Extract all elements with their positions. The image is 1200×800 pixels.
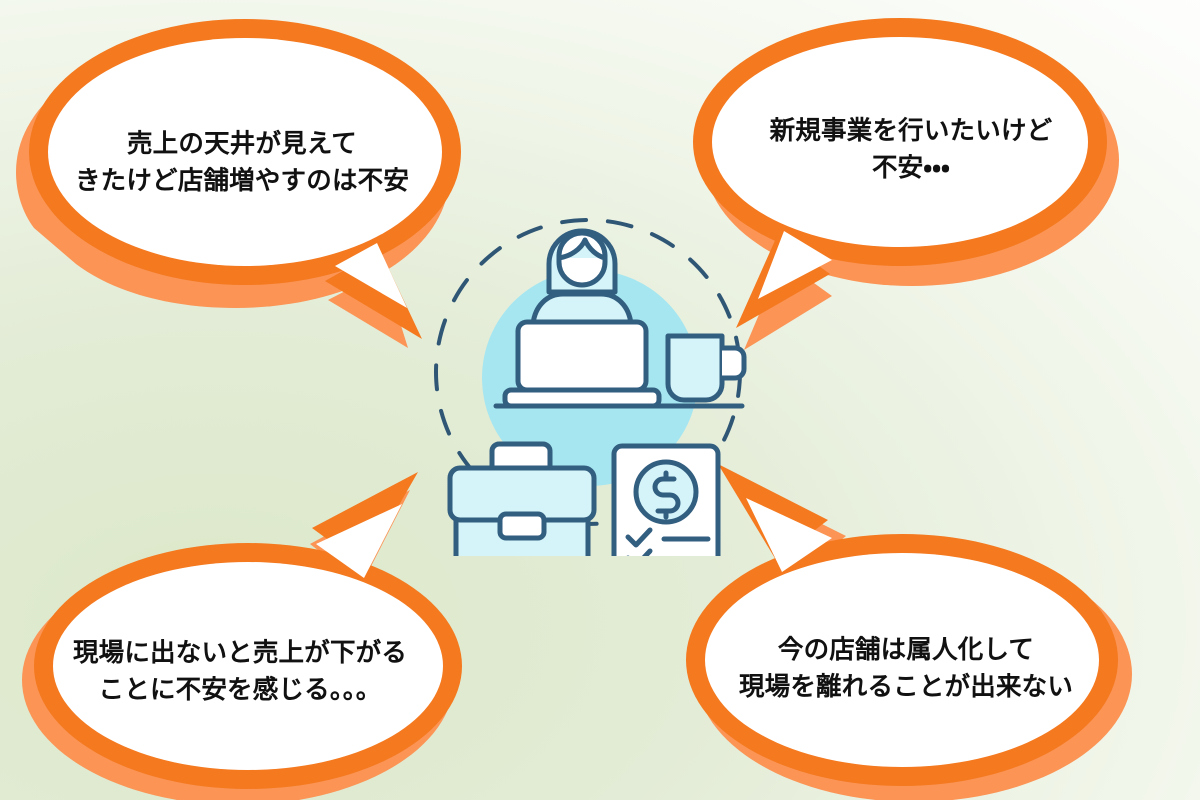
laptop-icon <box>505 322 659 406</box>
person-icon <box>533 231 631 324</box>
coffee-mug-icon <box>668 336 744 400</box>
document-icon <box>614 446 718 556</box>
infographic-canvas: 売上の天井が見えて きたけど店舗増やすのは不安 新規事業を行いたいけど 不安・・… <box>0 0 1200 800</box>
speech-bubble-onsite-sales[interactable]: 現場に出ないと売上が下がる ことに不安を感じる。。。 <box>20 470 470 790</box>
bubble-outline <box>34 472 462 789</box>
speech-bubble-sales-ceiling[interactable]: 売上の天井が見えて きたけど店舗増やすのは不安 <box>20 12 470 342</box>
business-owner-desk-illustration <box>418 196 758 556</box>
